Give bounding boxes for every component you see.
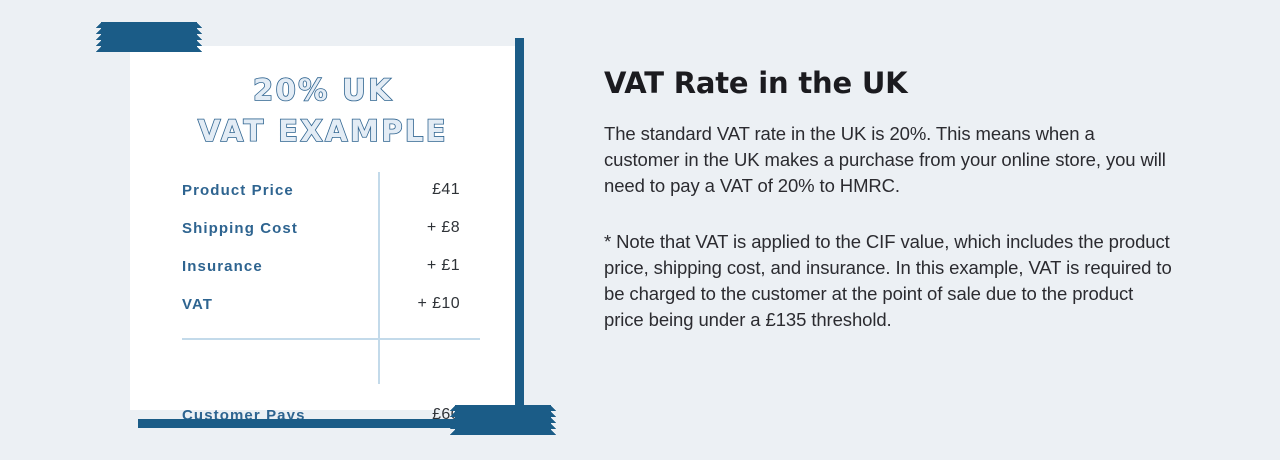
card-title-line-2: VAT EXAMPLE	[130, 111, 516, 152]
row-amount: + £1	[378, 257, 478, 275]
page-canvas: 20% UK VAT EXAMPLE Product Price £41 Shi…	[0, 0, 1280, 460]
vat-example-card: 20% UK VAT EXAMPLE Product Price £41 Shi…	[130, 46, 516, 410]
table-row: Shipping Cost + £8	[182, 209, 478, 247]
card-right-accent-bar	[515, 38, 524, 428]
table-row: Insurance + £1	[182, 247, 478, 285]
row-label: VAT	[182, 296, 378, 313]
table-horizontal-divider	[182, 338, 480, 340]
row-amount: + £8	[378, 219, 478, 237]
row-amount: £41	[378, 181, 478, 199]
table-row: Product Price £41	[182, 171, 478, 209]
tape-strip-bottom-right	[455, 405, 551, 435]
article-paragraph-1: The standard VAT rate in the UK is 20%. …	[604, 121, 1174, 199]
article-paragraph-2: * Note that VAT is applied to the CIF va…	[604, 229, 1174, 333]
total-section: Customer Pays £60	[182, 396, 478, 434]
cost-breakdown-table: Product Price £41 Shipping Cost + £8 Ins…	[182, 171, 478, 323]
tape-strip-top-left	[101, 22, 197, 52]
table-vertical-divider	[378, 172, 380, 384]
row-amount: + £10	[378, 295, 478, 313]
table-row-total: Customer Pays £60	[182, 396, 478, 434]
article-heading: VAT Rate in the UK	[604, 66, 1174, 100]
card-title-line-1: 20% UK	[130, 70, 516, 111]
table-row: VAT + £10	[182, 285, 478, 323]
article-column: VAT Rate in the UK The standard VAT rate…	[604, 66, 1174, 333]
row-label: Product Price	[182, 182, 378, 199]
card-title: 20% UK VAT EXAMPLE	[130, 70, 516, 152]
row-label: Insurance	[182, 258, 378, 275]
row-label: Shipping Cost	[182, 220, 378, 237]
